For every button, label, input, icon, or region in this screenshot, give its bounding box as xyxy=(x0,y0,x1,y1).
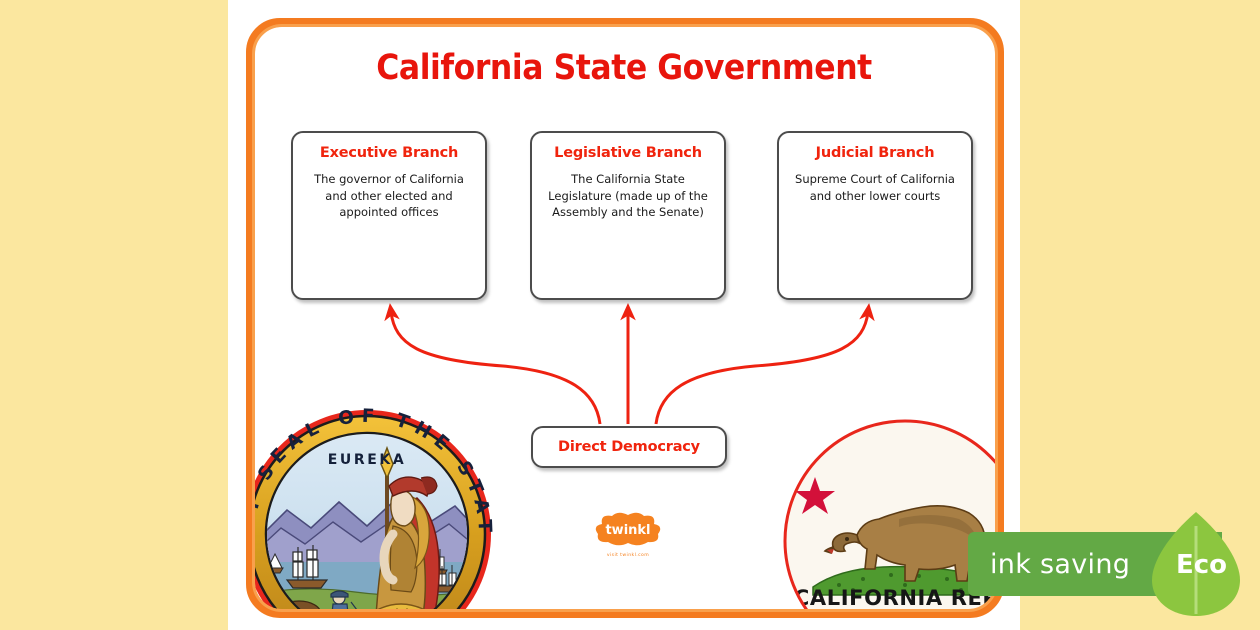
california-republic-flag: CALIFORNIA REPU xyxy=(779,415,995,609)
direct-democracy-label: Direct Democracy xyxy=(558,439,700,455)
branch-box-executive[interactable]: Executive Branch The governor of Califor… xyxy=(291,131,487,300)
branch-text-legislative: The California State Legislature (made u… xyxy=(542,171,714,221)
direct-democracy-box[interactable]: Direct Democracy xyxy=(531,426,727,468)
branch-title-legislative: Legislative Branch xyxy=(542,145,714,161)
worksheet-page: T SEAL OF THE STATE OF xyxy=(228,0,1020,630)
twinkl-url-text: visit twinkl.com xyxy=(586,553,670,558)
page-title: California State Government xyxy=(268,48,981,88)
branch-box-judicial[interactable]: Judicial Branch Supreme Court of Califor… xyxy=(777,131,973,300)
twinkl-cloud-icon: twinkl xyxy=(586,512,670,548)
california-state-seal: T SEAL OF THE STATE OF xyxy=(255,402,500,609)
ink-saving-eco-badge: ink saving Eco xyxy=(968,532,1260,596)
twinkl-logo: twinkl visit twinkl.com xyxy=(586,512,670,566)
branch-text-executive: The governor of California and other ele… xyxy=(303,171,475,221)
svg-text:EUREKA: EUREKA xyxy=(328,452,407,468)
ink-saving-label: ink saving xyxy=(990,549,1130,580)
branch-box-legislative[interactable]: Legislative Branch The California State … xyxy=(530,131,726,300)
branch-text-judicial: Supreme Court of California and other lo… xyxy=(789,171,961,204)
branch-title-judicial: Judicial Branch xyxy=(789,145,961,161)
twinkl-wordmark: twinkl xyxy=(605,523,650,538)
flag-caption: CALIFORNIA REPU xyxy=(794,586,995,609)
eco-label: Eco xyxy=(1176,550,1227,580)
branch-title-executive: Executive Branch xyxy=(303,145,475,161)
